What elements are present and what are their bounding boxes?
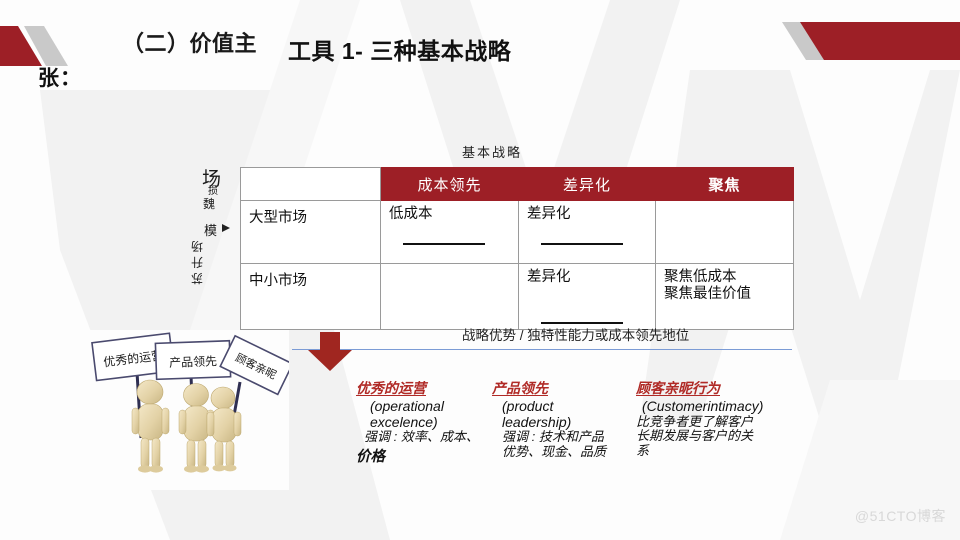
flow-divider-line: [292, 349, 792, 350]
discipline-cn-line1: 强调 : 技术和产品: [492, 430, 632, 445]
axis-char-6: 升: [191, 254, 203, 271]
cell-large-differentiation: 差异化: [519, 201, 656, 264]
discipline-english-line2: excelence): [356, 415, 491, 431]
flow-section: 战略优势 / 独特性能力或成本领先地位: [0, 315, 960, 375]
discipline-cn-line1: 比竞争者更了解客户: [636, 415, 811, 430]
column-header-differentiation: 差异化: [519, 168, 656, 201]
row-label-large-market: 大型市场: [241, 201, 381, 264]
strategy-matrix-table: 成本领先 差异化 聚焦 大型市场 低成本 差异化 中小市场 差异化: [240, 167, 794, 330]
cell-text: 差异化: [527, 269, 647, 286]
cell-text: 差异化: [527, 206, 647, 223]
discipline-cn-strong: 价格: [356, 445, 491, 466]
axis-char-3: 魏: [203, 195, 215, 212]
axis-char-5: 场: [191, 238, 203, 255]
column-header-cost-leadership: 成本领先: [381, 168, 519, 201]
discipline-cn-line3: 系: [636, 444, 811, 459]
discipline-product-leadership: 产品领先 (product leadership) 强调 : 技术和产品 优势、…: [492, 378, 632, 459]
down-arrow-icon: [308, 332, 352, 377]
discipline-heading: 优秀的运营: [356, 378, 491, 398]
column-header-focus: 聚焦: [656, 168, 794, 201]
discipline-customer-intimacy: 顾客亲昵行为 (Customerintimacy) 比竞争者更了解客户 长期发展…: [636, 378, 811, 458]
page-title-author: 张：: [38, 62, 82, 92]
discipline-english-line1: (product: [492, 399, 632, 415]
discipline-cn-line2: 优势、现金、品质: [492, 445, 632, 460]
discipline-english-line2: leadership): [492, 415, 632, 431]
matrix-caption: 基本战略: [462, 142, 522, 161]
table-row: 大型市场 低成本 差异化: [241, 201, 794, 264]
cell-text-line1: 聚焦低成本: [664, 269, 785, 286]
site-watermark: @51CTO博客: [855, 506, 946, 526]
slide-title: （二）价值主 工具 1- 三种基本战略 张：: [0, 0, 960, 100]
axis-char-4: 模: [204, 220, 217, 239]
axis-char-7: 苏: [191, 270, 203, 287]
cell-text-line2: 聚焦最佳价值: [664, 286, 785, 303]
discipline-operational-excellence: 优秀的运营 (operational excelence) 强调 : 效率、成本…: [356, 378, 491, 466]
discipline-cn-line2: 长期发展与客户的关: [636, 429, 811, 444]
matrix-axis-label: 场 损 魏 模 场 升 苏: [186, 162, 238, 310]
discipline-cn-line1: 强调 : 效率、成本、: [356, 430, 491, 445]
cell-large-focus: [656, 201, 794, 264]
page-title-primary: （二）价值主: [122, 26, 257, 58]
discipline-heading: 顾客亲昵行为: [636, 378, 811, 398]
cell-text: 低成本: [389, 206, 510, 223]
cell-underline: [541, 243, 623, 245]
page-title-secondary: 工具 1- 三种基本战略: [288, 32, 511, 66]
axis-arrow-icon: [222, 224, 230, 232]
cell-large-cost: 低成本: [381, 201, 519, 264]
flow-caption: 战略优势 / 独特性能力或成本领先地位: [462, 328, 792, 345]
discipline-english-line1: (operational: [356, 399, 491, 415]
discipline-heading: 产品领先: [492, 378, 632, 398]
table-corner-cell: [241, 168, 381, 201]
discipline-english-line1: (Customerintimacy): [636, 399, 811, 415]
cell-underline: [403, 243, 485, 245]
table-header-row: 成本领先 差异化 聚焦: [241, 168, 794, 201]
